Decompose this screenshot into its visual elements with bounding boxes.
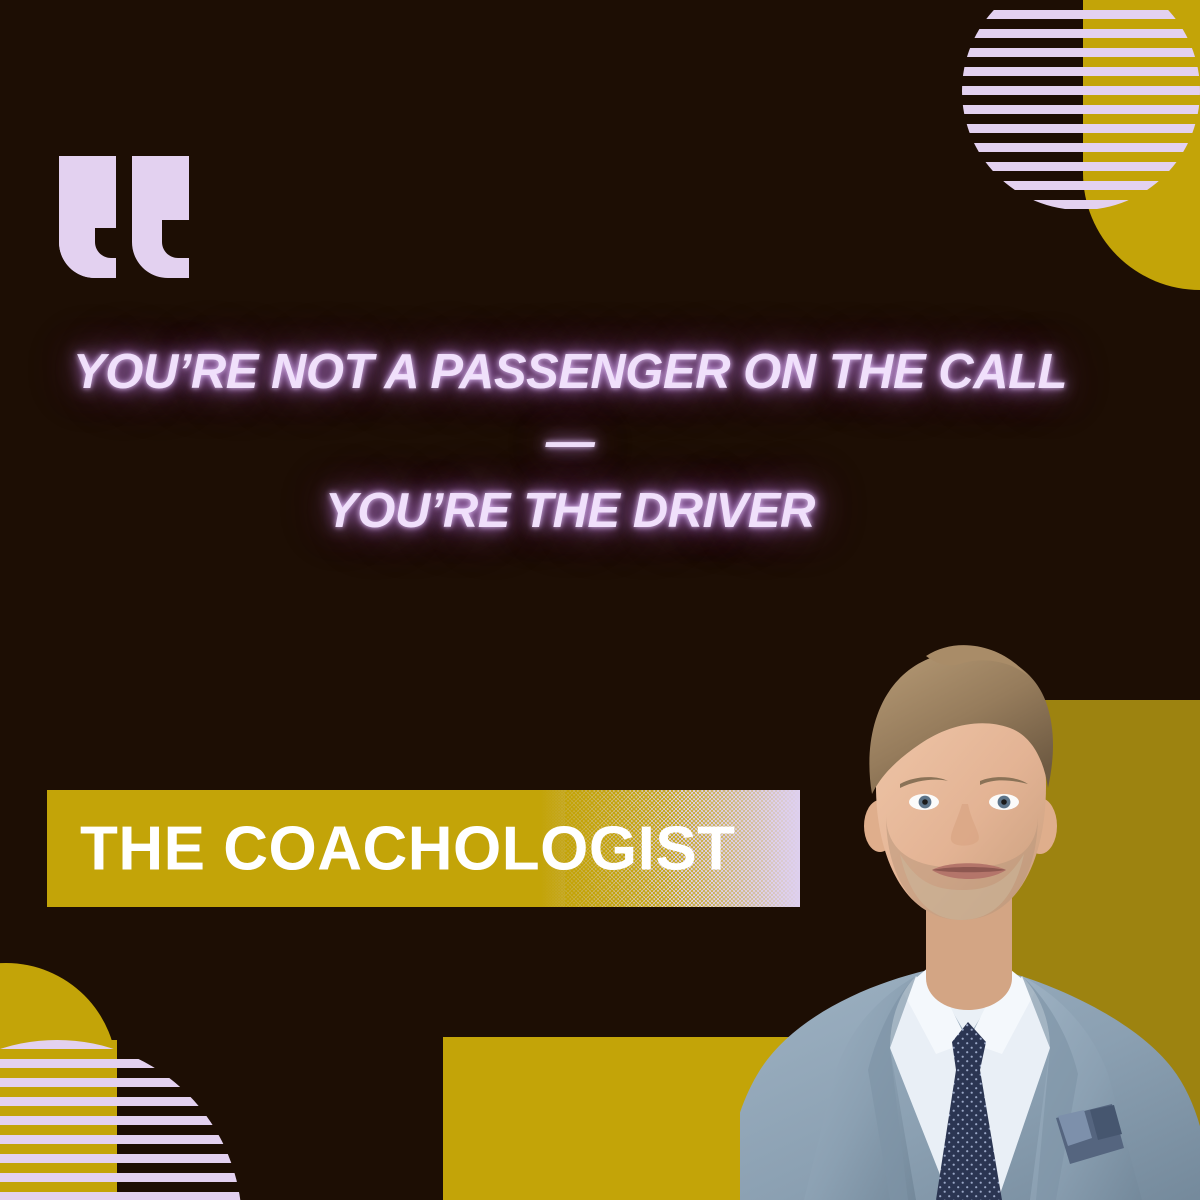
striped-circle-top-right	[962, 0, 1200, 210]
avatar	[740, 618, 1200, 1200]
brand-name: THE COACHOLOGIST	[80, 813, 736, 884]
brand-banner: THE COACHOLOGIST	[47, 790, 800, 907]
stripe-pattern	[0, 1040, 242, 1200]
quote-card-canvas: YOU’RE NOT A PASSENGER ON THE CALL — YOU…	[0, 0, 1200, 1200]
headline-quote: YOU’RE NOT A PASSENGER ON THE CALL — YOU…	[60, 338, 1080, 547]
striped-circle-bottom-left	[0, 1040, 242, 1200]
quote-icon	[59, 156, 189, 278]
stripe-pattern	[962, 0, 1200, 210]
